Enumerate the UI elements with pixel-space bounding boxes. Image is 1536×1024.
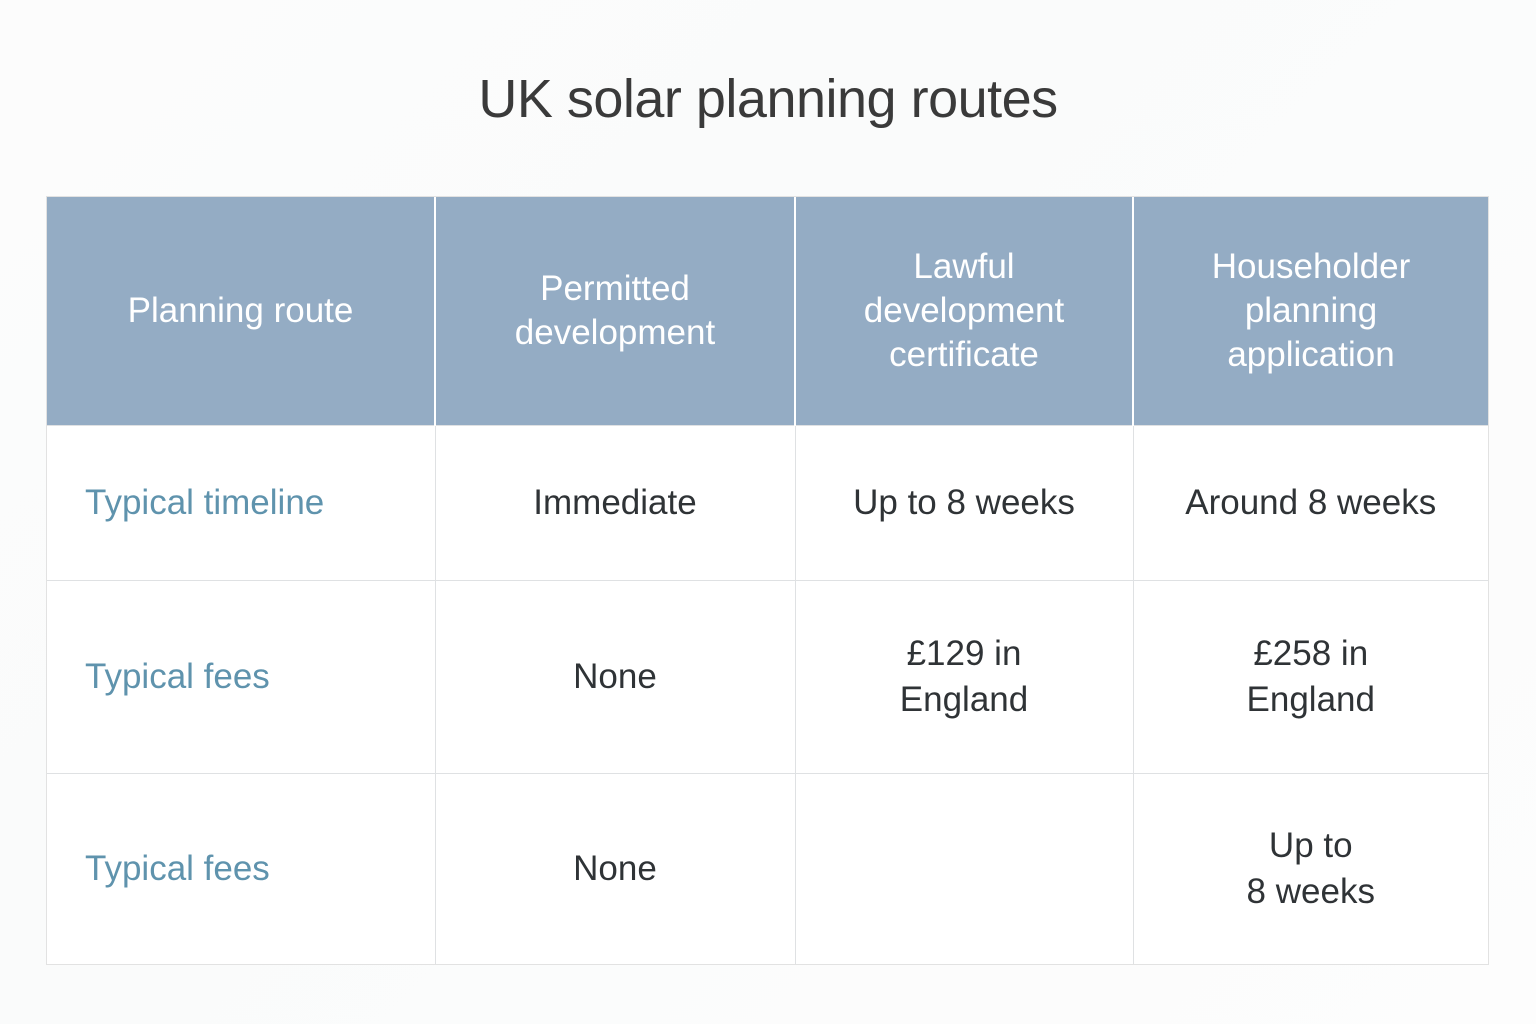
cell-fees1-lawful-development-certificate: £129 in England	[795, 580, 1133, 773]
column-header-permitted-development: Permitted development	[435, 197, 795, 425]
cell-fees2-householder-planning-application: Up to 8 weeks	[1133, 773, 1488, 964]
cell-fees2-lawful-development-certificate	[795, 773, 1133, 964]
planning-routes-table-container: Planning route Permitted development Law…	[47, 197, 1488, 964]
row-label-typical-timeline: Typical timeline	[47, 425, 435, 580]
table-body: Typical timeline Immediate Up to 8 weeks…	[47, 425, 1488, 964]
cell-fees2-permitted-development: None	[435, 773, 795, 964]
row-label-typical-fees-2: Typical fees	[47, 773, 435, 964]
cell-fees1-householder-planning-application: £258 in England	[1133, 580, 1488, 773]
column-header-planning-route: Planning route	[47, 197, 435, 425]
planning-routes-table: Planning route Permitted development Law…	[47, 197, 1488, 964]
table-header: Planning route Permitted development Law…	[47, 197, 1488, 425]
row-label-typical-fees-1: Typical fees	[47, 580, 435, 773]
table-row: Typical timeline Immediate Up to 8 weeks…	[47, 425, 1488, 580]
table-header-row: Planning route Permitted development Law…	[47, 197, 1488, 425]
column-header-lawful-development-certificate: Lawful development certificate	[795, 197, 1133, 425]
cell-timeline-householder-planning-application: Around 8 weeks	[1133, 425, 1488, 580]
cell-timeline-lawful-development-certificate: Up to 8 weeks	[795, 425, 1133, 580]
cell-fees1-permitted-development: None	[435, 580, 795, 773]
column-header-householder-planning-application: Householder planning application	[1133, 197, 1488, 425]
cell-timeline-permitted-development: Immediate	[435, 425, 795, 580]
page-title: UK solar planning routes	[0, 68, 1536, 130]
table-row: Typical fees None Up to 8 weeks	[47, 773, 1488, 964]
table-row: Typical fees None £129 in England £258 i…	[47, 580, 1488, 773]
